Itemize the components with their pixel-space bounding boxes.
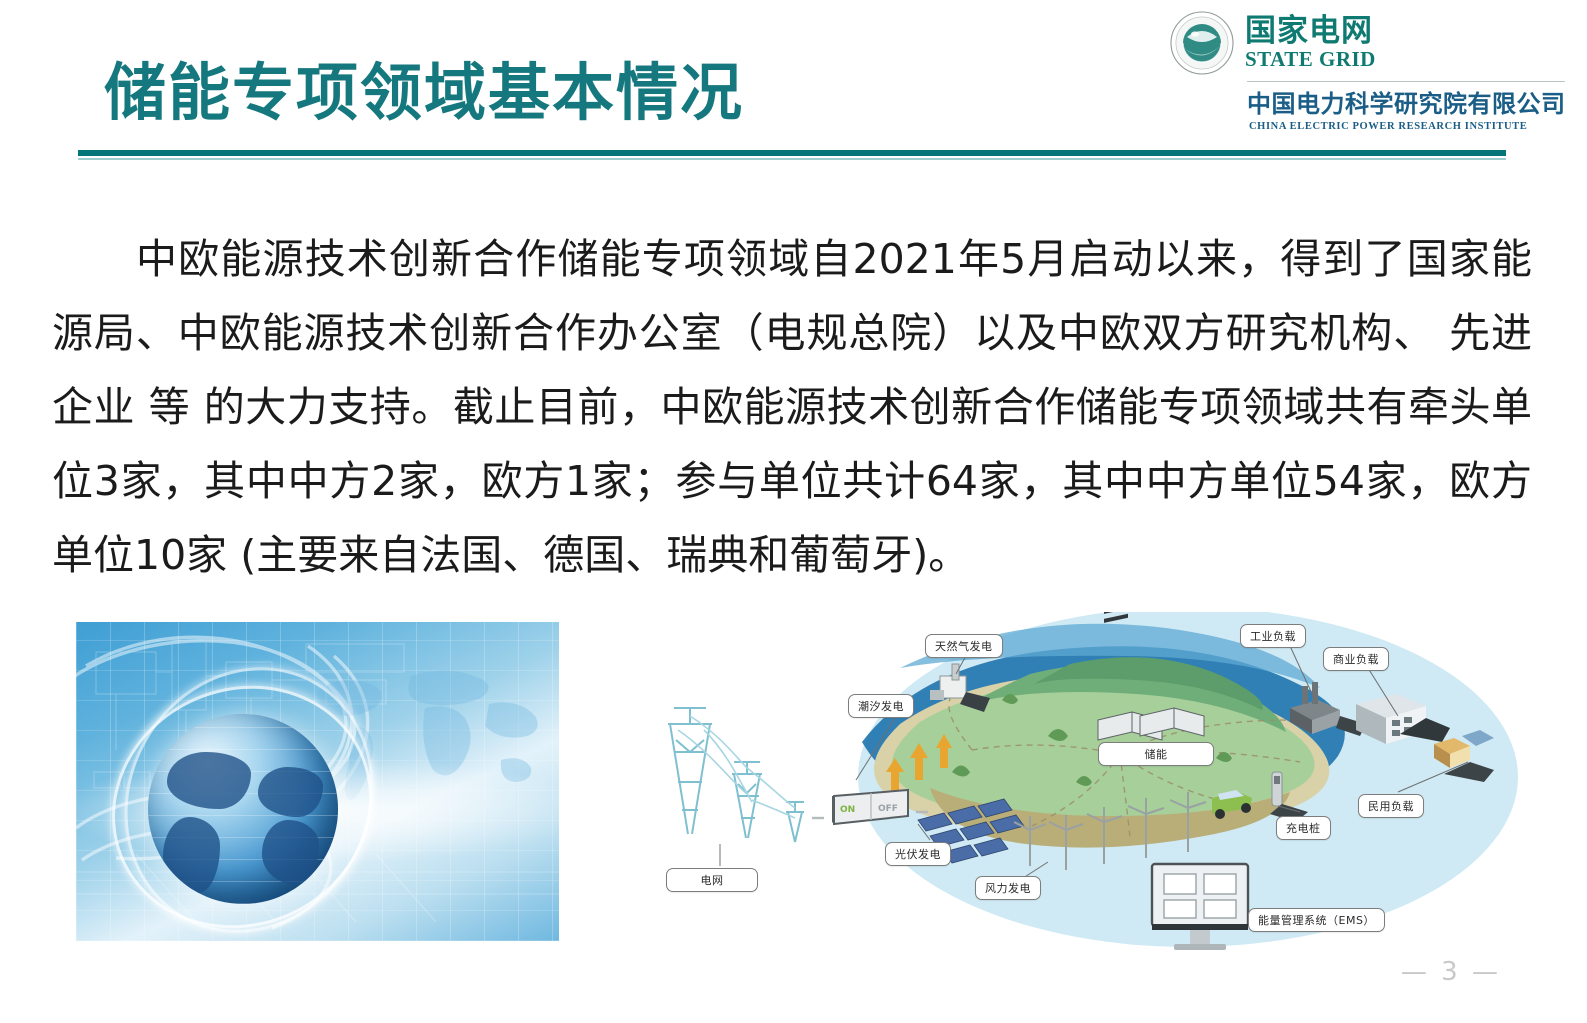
- institute-name-cn: 中国电力科学研究院有限公司: [1247, 84, 1569, 119]
- label-gas-power: 天然气发电: [925, 634, 1003, 658]
- switch-off-label: OFF: [878, 804, 898, 814]
- label-commercial-load: 商业负载: [1323, 647, 1389, 671]
- label-tidal-power: 潮汐发电: [848, 694, 914, 718]
- body-paragraph: 中欧能源技术创新合作储能专项领域自2021年5月启动以来，得到了国家能源局、中欧…: [52, 222, 1532, 592]
- label-wind-power: 风力发电: [975, 876, 1041, 900]
- smart-grid-island-illustration: ON OFF: [600, 612, 1560, 957]
- switch-on-label: ON: [840, 805, 855, 815]
- title-divider: [78, 150, 1506, 160]
- logo-wordmark: 国家电网 STATE GRID: [1245, 16, 1376, 70]
- page-title: 储能专项领域基本情况: [104, 42, 744, 132]
- slide-canvas: 国家电网 STATE GRID 中国电力科学研究院有限公司 CHINA ELEC…: [0, 0, 1587, 1023]
- logo-divider: [1247, 81, 1565, 82]
- label-pv-power: 光伏发电: [885, 842, 951, 866]
- globe-technology-photo: [76, 622, 559, 941]
- label-residential-load: 民用负载: [1358, 794, 1424, 818]
- label-charging-pile: 充电桩: [1276, 816, 1331, 840]
- page-number: — 3 —: [1401, 957, 1501, 987]
- institute-name-en: CHINA ELECTRIC POWER RESEARCH INSTITUTE: [1249, 121, 1569, 132]
- label-ems: 能量管理系统（EMS）: [1248, 908, 1385, 932]
- title-divider-thick: [78, 150, 1506, 156]
- label-energy-storage: 储能: [1098, 742, 1214, 766]
- company-name-cn: 国家电网: [1245, 16, 1376, 47]
- company-name-en: STATE GRID: [1245, 49, 1376, 70]
- state-grid-globe-emblem-icon: [1169, 10, 1235, 76]
- label-industrial-load: 工业负载: [1240, 624, 1306, 648]
- state-grid-logo-block: 国家电网 STATE GRID 中国电力科学研究院有限公司 CHINA ELEC…: [1169, 8, 1569, 130]
- logo-top-row: 国家电网 STATE GRID: [1169, 8, 1569, 78]
- power-lines: [678, 716, 795, 818]
- title-divider-thin: [78, 158, 1506, 160]
- label-power-grid: 电网: [666, 868, 758, 892]
- grid-illustration-svg: ON OFF: [600, 612, 1560, 957]
